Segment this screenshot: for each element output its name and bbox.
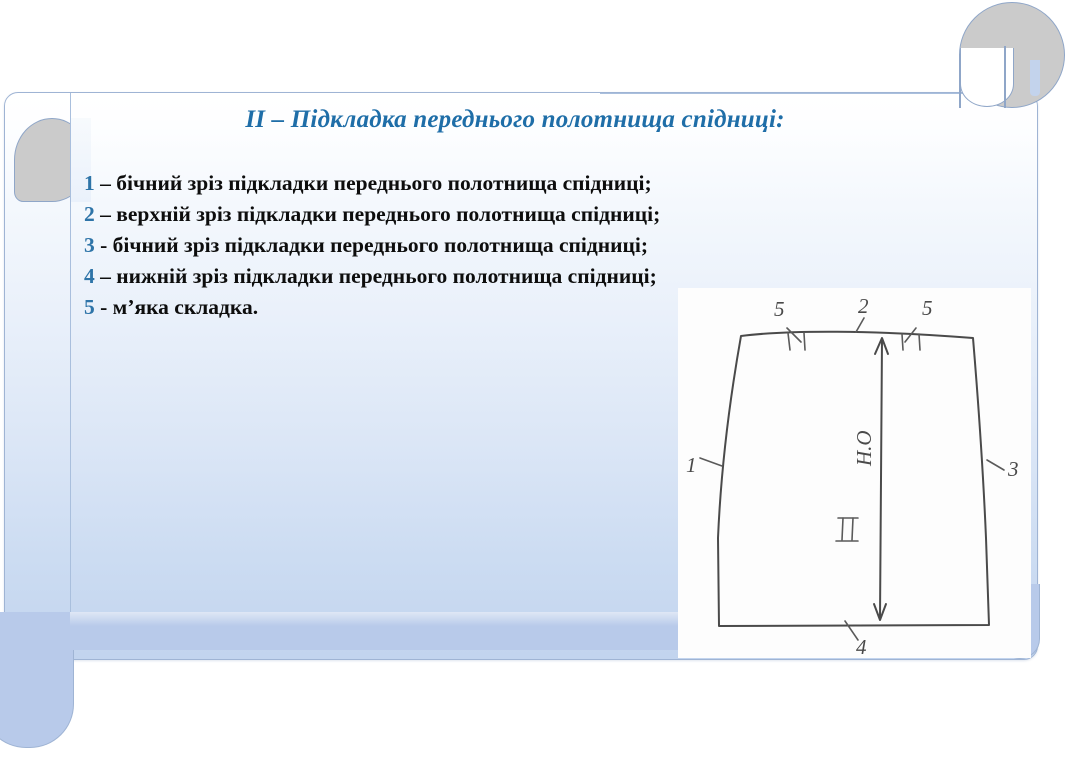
grainline-label: Н.О: [852, 430, 876, 467]
leader-top-edge: [856, 318, 864, 332]
list-item-label: нижній зріз підкладки переднього полотни…: [116, 264, 657, 288]
list-item-number: 4: [84, 264, 95, 288]
list-item-dash: –: [100, 171, 111, 195]
list-item-number: 2: [84, 202, 95, 226]
pattern-diagram-image: Н.О: [678, 288, 1031, 658]
callout-2: 2: [858, 294, 869, 318]
scroll-top-line: [600, 93, 1020, 94]
grainline-arrow-shaft: [880, 340, 882, 618]
callout-1: 1: [686, 453, 697, 477]
leader-left-side: [700, 458, 722, 466]
list-item-dash: -: [100, 233, 107, 257]
page-title: II – Підкладка переднього полотнища спід…: [70, 106, 960, 134]
list-item-label: верхній зріз підкладки переднього полотн…: [116, 202, 660, 226]
list-item: 2 – верхній зріз підкладки переднього по…: [84, 199, 964, 230]
list-item-number: 1: [84, 171, 95, 195]
slide-canvas: II – Підкладка переднього полотнища спід…: [0, 0, 1065, 767]
list-item-label: м’яка складка.: [113, 295, 258, 319]
callout-4: 4: [856, 635, 867, 658]
list-item-dash: –: [100, 264, 111, 288]
callout-3: 3: [1007, 457, 1019, 481]
scroll-right-band: [1030, 60, 1040, 96]
list-item-number: 3: [84, 233, 95, 257]
list-item-dash: -: [100, 295, 107, 319]
list-item: 1 – бічний зріз підкладки переднього пол…: [84, 168, 964, 199]
pleat-marks-left: [788, 333, 805, 350]
piece-number-mark: [836, 518, 858, 541]
callout-5-left: 5: [774, 297, 785, 321]
scroll-curl-bottom-left-icon: [0, 612, 74, 748]
list-item: 3 - бічний зріз підкладки переднього пол…: [84, 230, 964, 261]
list-item-dash: –: [100, 202, 111, 226]
leader-right-side: [987, 460, 1004, 470]
pattern-diagram-svg: Н.О: [678, 288, 1031, 658]
scroll-curl-stem-right: [1004, 46, 1006, 108]
list-item-label: бічний зріз підкладки переднього полотни…: [113, 233, 648, 257]
callout-5-right: 5: [922, 296, 933, 320]
list-item-label: бічний зріз підкладки переднього полотни…: [116, 171, 651, 195]
list-item-number: 5: [84, 295, 95, 319]
skirt-outline: [718, 332, 989, 626]
scroll-curl-stem-left: [959, 54, 961, 108]
